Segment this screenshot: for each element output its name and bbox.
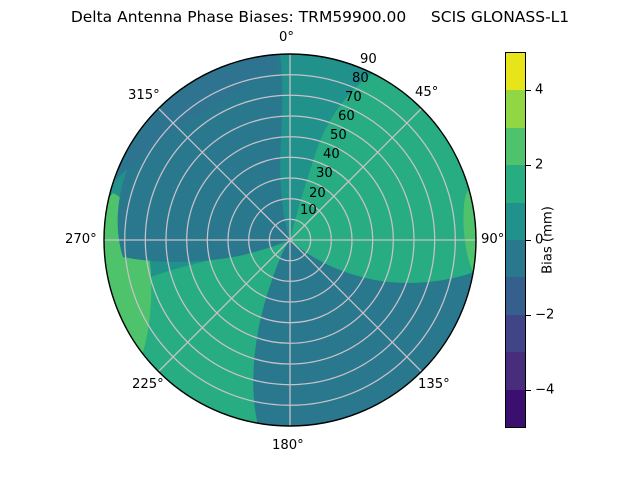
- colorbar-band-neg1-to-0: [506, 240, 525, 277]
- theta-tick-180: 180°: [272, 438, 304, 453]
- colorbar-band-neg5-to-neg4: [506, 390, 525, 427]
- colorbar-band-2-to-3: [506, 128, 525, 165]
- colorbar-band-neg3-to-neg2: [506, 315, 525, 352]
- r-tick-60: 60: [338, 109, 355, 124]
- r-tick-40: 40: [323, 147, 340, 162]
- theta-tick-45: 45°: [415, 85, 438, 100]
- colorbar-ticklabel-neg2: −2: [535, 308, 554, 323]
- colorbar-band-1-to-2: [506, 165, 525, 202]
- polar-plot-svg: [103, 53, 477, 427]
- r-tick-50: 50: [330, 128, 347, 143]
- polar-grid-spokes: [104, 54, 476, 426]
- colorbar-band-0-to-1: [506, 203, 525, 240]
- polar-plot-axes[interactable]: [103, 53, 477, 427]
- r-tick-80: 80: [352, 71, 369, 86]
- r-tick-10: 10: [300, 203, 317, 218]
- colorbar-ticklabel-neg4: −4: [535, 383, 554, 398]
- colorbar-axis-label: Bias (mm): [541, 206, 556, 274]
- r-tick-70: 70: [345, 90, 362, 105]
- theta-tick-135: 135°: [418, 377, 450, 392]
- r-tick-90: 90: [360, 52, 377, 67]
- colorbar-tick-neg2: [526, 315, 531, 316]
- r-tick-20: 20: [309, 186, 326, 201]
- colorbar-tick-0: [526, 240, 531, 241]
- colorbar-band-neg2-to-neg1: [506, 277, 525, 314]
- figure-canvas: Delta Antenna Phase Biases: TRM59900.00 …: [0, 0, 640, 480]
- colorbar[interactable]: 4 2 0 −2 −4: [505, 52, 526, 428]
- theta-tick-225: 225°: [132, 377, 164, 392]
- colorbar-ticklabel-4: 4: [535, 82, 543, 97]
- colorbar-tick-2: [526, 165, 531, 166]
- theta-tick-315: 315°: [128, 88, 160, 103]
- colorbar-band-4-to-5: [506, 53, 525, 90]
- page-title: Delta Antenna Phase Biases: TRM59900.00 …: [0, 8, 640, 26]
- colorbar-band-neg4-to-neg3: [506, 352, 525, 389]
- colorbar-band-3-to-4: [506, 90, 525, 127]
- colorbar-tick-4: [526, 90, 531, 91]
- colorbar-tick-neg4: [526, 390, 531, 391]
- r-tick-30: 30: [316, 166, 333, 181]
- theta-tick-270: 270°: [65, 232, 97, 247]
- theta-tick-0: 0°: [279, 30, 294, 45]
- colorbar-gradient: [505, 52, 526, 428]
- theta-tick-90: 90°: [481, 232, 504, 247]
- colorbar-ticklabel-2: 2: [535, 157, 543, 172]
